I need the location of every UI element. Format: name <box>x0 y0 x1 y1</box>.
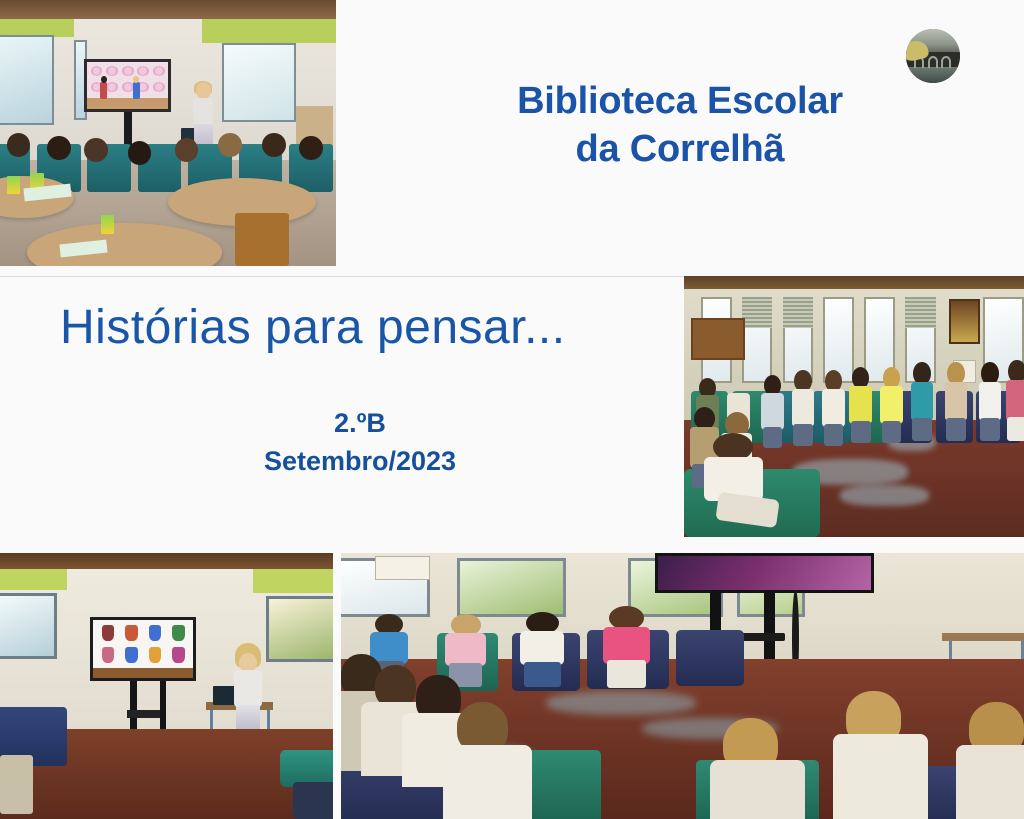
slide-canvas: Biblioteca Escolar da Correlhã Histórias… <box>0 0 1024 819</box>
section-divider <box>0 276 684 277</box>
date-label: Setembro/2023 <box>60 446 660 477</box>
page-title-line-2: da Correlhã <box>360 126 1000 174</box>
photo-audience <box>341 553 1024 819</box>
bridge-logo-icon <box>906 29 960 83</box>
photo-hall-right <box>684 276 1024 537</box>
class-label: 2.ºB <box>60 408 660 439</box>
photo-classroom-tables <box>0 0 336 266</box>
page-title: Biblioteca Escolar da Correlhã <box>360 78 1000 173</box>
photo-presentation <box>0 553 333 819</box>
page-title-line-1: Biblioteca Escolar <box>360 78 1000 126</box>
slide-subtitle: Histórias para pensar... <box>60 300 660 355</box>
